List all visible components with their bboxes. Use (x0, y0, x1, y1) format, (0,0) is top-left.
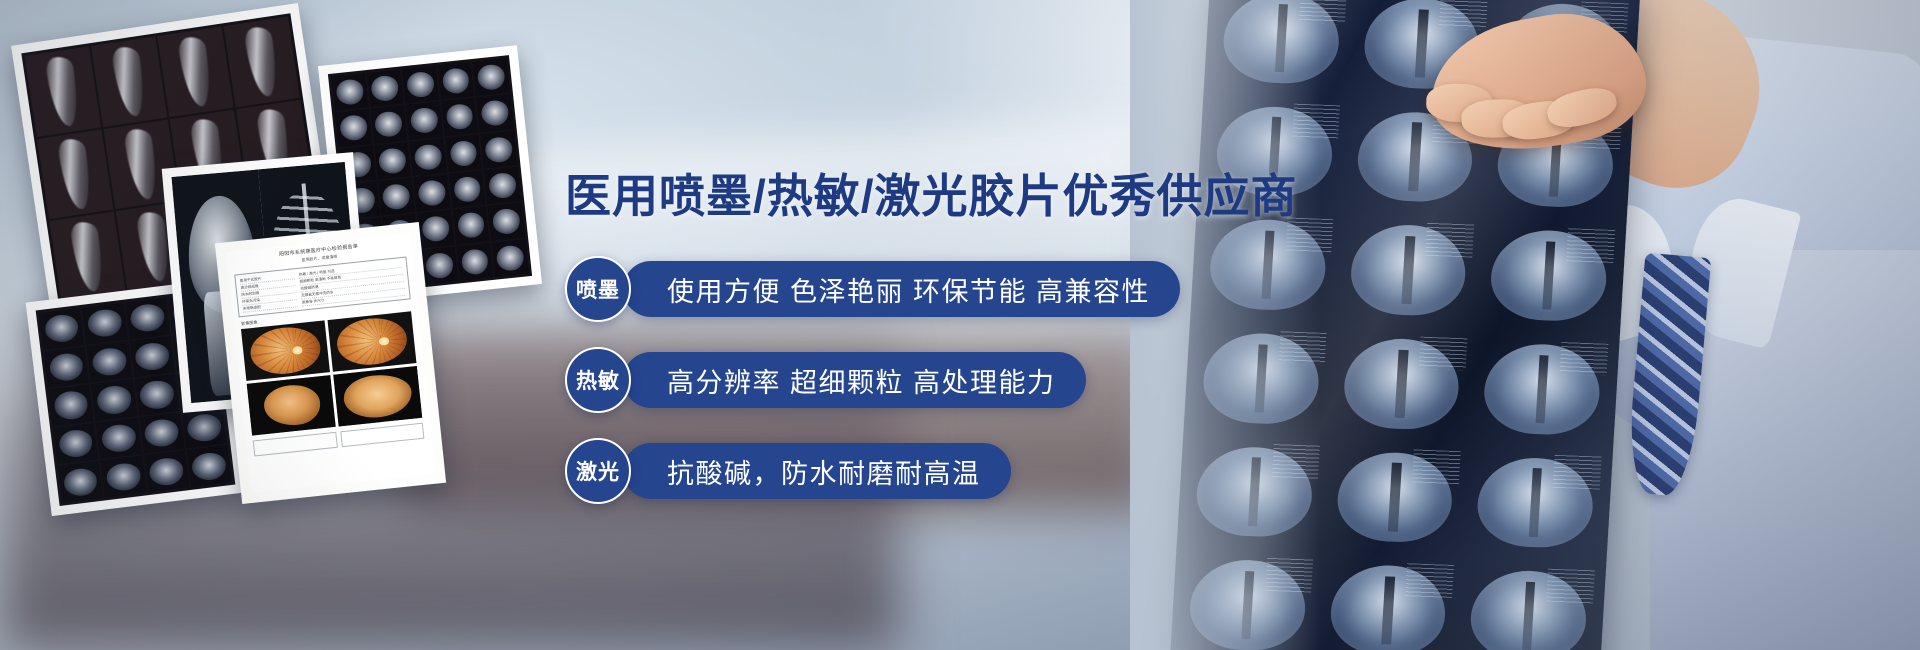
feature-row-laser[interactable]: 激光 抗酸碱，防水耐磨耐高温 (565, 438, 1325, 504)
feature-row-inkjet[interactable]: 喷墨 使用方便 色泽艳丽 环保节能 高兼容性 (565, 256, 1325, 322)
banner-content: 医用喷墨/热敏/激光胶片优秀供应商 喷墨 使用方便 色泽艳丽 环保节能 高兼容性… (565, 160, 1325, 504)
feature-badge-laser: 激光 (565, 438, 631, 504)
page-title: 医用喷墨/热敏/激光胶片优秀供应商 (565, 160, 1325, 226)
feature-pill-thermal: 高分辨率 超细颗粒 高处理能力 (623, 352, 1086, 408)
medical-film-hero-banner: 阳阳市系统康医疗中心检验报告单 医用胶片，成像清晰 医用干式胶片 热敏 / 激光… (0, 0, 1920, 650)
feature-badge-inkjet: 喷墨 (565, 256, 631, 322)
feature-row-thermal[interactable]: 热敏 高分辨率 超细颗粒 高处理能力 (565, 347, 1325, 413)
feature-pill-inkjet: 使用方便 色泽艳丽 环保节能 高兼容性 (623, 261, 1180, 317)
feature-list: 喷墨 使用方便 色泽艳丽 环保节能 高兼容性 热敏 高分辨率 超细颗粒 高处理能… (565, 256, 1325, 504)
feature-pill-laser: 抗酸碱，防水耐磨耐高温 (623, 443, 1011, 499)
feature-badge-thermal: 热敏 (565, 347, 631, 413)
